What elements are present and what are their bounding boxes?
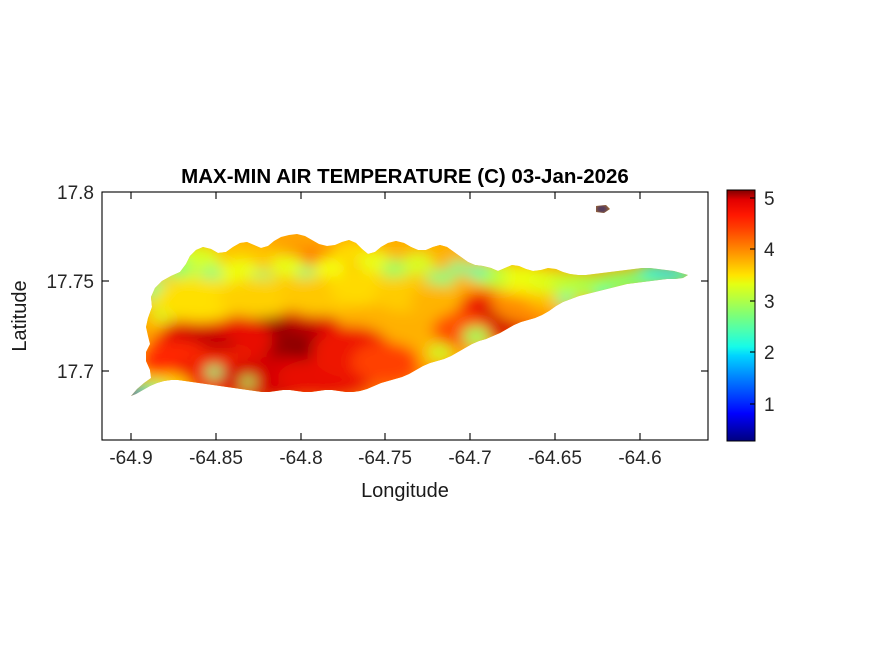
y-axis-title: Latitude <box>9 280 31 351</box>
temperature-map-figure: MAX-MIN AIR TEMPERATURE (C) 03-Jan-2026 <box>0 0 875 656</box>
x-tick-label: -64.85 <box>189 448 243 469</box>
colorbar-tick-label: 3 <box>764 292 775 313</box>
colorbar-tick-label: 4 <box>764 240 775 261</box>
x-tick-label: -64.65 <box>528 448 582 469</box>
y-tick-label: 17.8 <box>57 183 94 204</box>
x-tick-label: -64.75 <box>358 448 412 469</box>
x-tick-label: -64.9 <box>109 448 152 469</box>
x-tick-label: -64.8 <box>279 448 322 469</box>
figure-canvas: MAX-MIN AIR TEMPERATURE (C) 03-Jan-2026 <box>0 0 875 656</box>
x-tick-labels: -64.9 -64.85 -64.8 -64.75 -64.7 -64.65 -… <box>109 448 661 469</box>
y-tick-label: 17.7 <box>57 362 94 383</box>
colorbar-tick-label: 1 <box>764 395 775 416</box>
x-tick-label: -64.7 <box>448 448 491 469</box>
colorbar-gradient <box>727 190 755 441</box>
plot-title: MAX-MIN AIR TEMPERATURE (C) 03-Jan-2026 <box>181 165 629 188</box>
y-tick-label: 17.75 <box>46 272 94 293</box>
colorbar-tick-label: 2 <box>764 343 775 364</box>
x-axis-title: Longitude <box>361 480 449 502</box>
colorbar-tick-label: 5 <box>764 189 775 210</box>
x-tick-label: -64.6 <box>618 448 661 469</box>
